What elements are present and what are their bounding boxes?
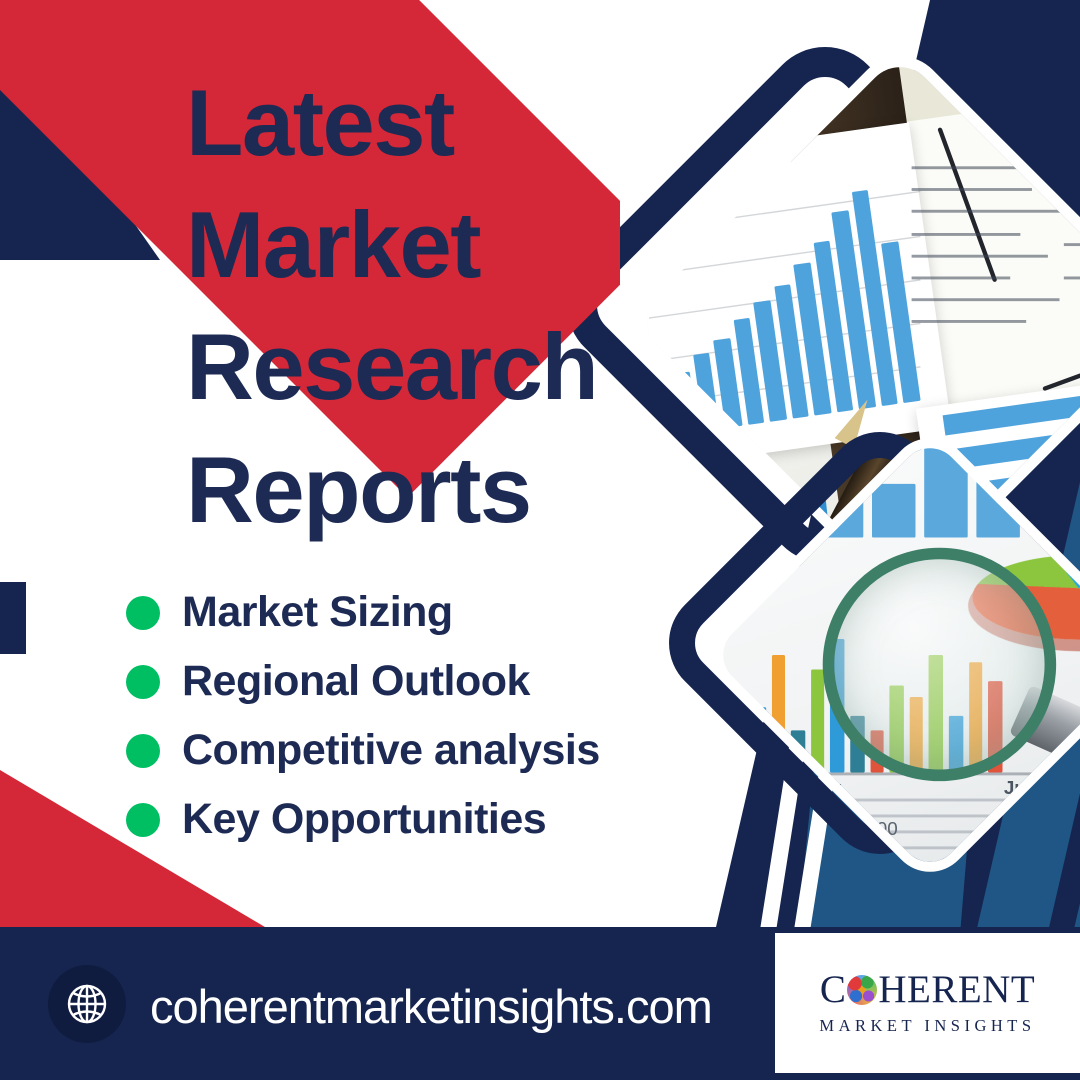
website-url[interactable]: coherentmarketinsights.com	[150, 979, 712, 1034]
feature-bullet-list: Market Sizing Regional Outlook Competiti…	[126, 588, 766, 864]
bullet-label-competitive-analysis: Competitive analysis	[182, 726, 600, 775]
bullet-dot-icon	[126, 596, 160, 630]
bullet-label-market-sizing: Market Sizing	[182, 588, 453, 637]
poster-canvas: May Jun 375.00 Latest Market Research	[0, 0, 1080, 1080]
globe-dot-icon	[847, 975, 877, 1005]
magnifier-lens	[822, 547, 1056, 781]
page-title: Latest Market Research Reports	[186, 62, 706, 551]
headline-line-4: Reports	[186, 429, 706, 551]
bullet-dot-icon	[126, 803, 160, 837]
bullet-label-key-opportunities: Key Opportunities	[182, 795, 546, 844]
list-item: Regional Outlook	[126, 657, 766, 706]
logo-tagline: MARKET INSIGHTS	[819, 1016, 1035, 1036]
company-logo[interactable]: C HERENT MARKET INSIGHTS	[775, 933, 1080, 1073]
bullet-dot-icon	[126, 665, 160, 699]
headline-line-2: Market	[186, 184, 706, 306]
bullet-dot-icon	[126, 734, 160, 768]
logo-word-herent: HERENT	[878, 970, 1035, 1009]
left-edge-navy-nub	[0, 582, 26, 654]
list-item: Key Opportunities	[126, 795, 766, 844]
globe-icon	[48, 965, 126, 1043]
list-item: Market Sizing	[126, 588, 766, 637]
headline-line-1: Latest	[186, 62, 706, 184]
list-item: Competitive analysis	[126, 726, 766, 775]
logo-letter-c: C	[820, 970, 847, 1009]
bullet-label-regional-outlook: Regional Outlook	[182, 657, 530, 706]
headline-line-3: Research	[186, 306, 706, 428]
logo-wordmark: C HERENT	[820, 970, 1035, 1009]
